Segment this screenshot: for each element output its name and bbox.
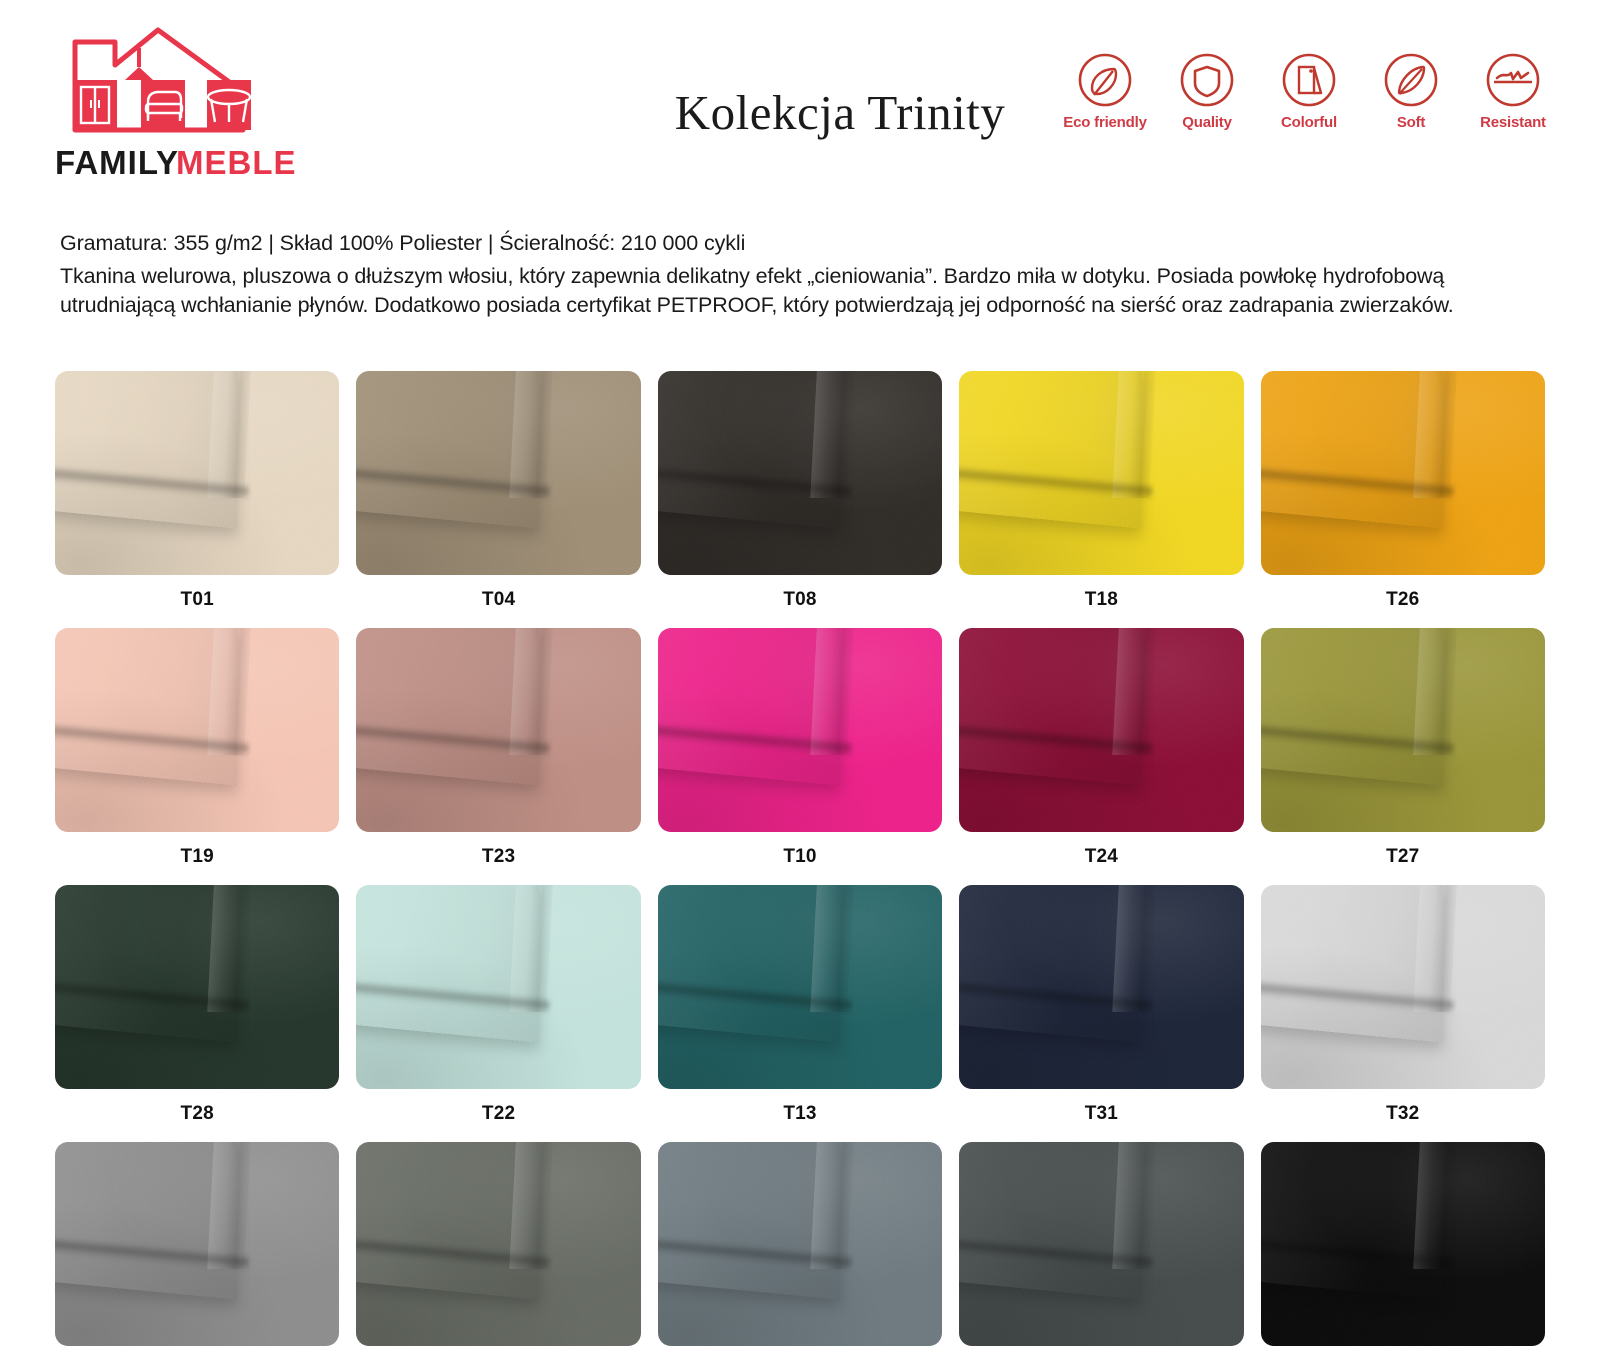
swatch-cell[interactable]: T28 [55,885,339,1142]
swatch-vignette [658,628,942,832]
fabric-swatch-image[interactable] [959,628,1243,832]
swatch-code-label: T28 [55,1089,339,1142]
swatch-icon [1281,52,1337,108]
swatch-code-label: T23 [356,832,640,885]
swatch-vignette [1261,885,1545,1089]
swatch-cell[interactable]: T14 [55,1142,339,1355]
fabric-swatch-image[interactable] [658,628,942,832]
swatch-vignette [356,885,640,1089]
swatch-vignette [356,1142,640,1346]
fabric-swatch-image[interactable] [658,885,942,1089]
swatch-code-label: T32 [1261,1089,1545,1142]
fabric-swatch-image[interactable] [356,885,640,1089]
feature-eco-friendly: Eco friendly [1068,52,1142,131]
fabric-swatch-image[interactable] [356,371,640,575]
fabric-collection-page: FAMILY MEBLE Kolekcja Trinity Eco friend… [0,0,1600,1355]
swatch-vignette [1261,1142,1545,1346]
swatch-code-label: T26 [1261,575,1545,628]
swatch-code-label: T10 [658,832,942,885]
swatch-cell[interactable]: T31 [959,885,1243,1142]
feature-label: Soft [1397,114,1425,131]
fabric-swatch-image[interactable] [1261,885,1545,1089]
swatch-cell[interactable]: T27 [1261,628,1545,885]
swatch-cell[interactable]: T18 [959,371,1243,628]
swatch-code-label: T08 [658,575,942,628]
feature-badges: Eco friendly Quality Colorful [1068,52,1550,131]
description-body: Tkanina welurowa, pluszowa o dłuższym wł… [60,262,1490,319]
feature-quality: Quality [1170,52,1244,131]
swatch-code-label: T16 [1261,1346,1545,1355]
swatch-vignette [658,371,942,575]
swatch-vignette [55,628,339,832]
swatch-cell[interactable]: T08 [658,371,942,628]
swatch-cell[interactable]: T04 [356,371,640,628]
swatch-cell[interactable]: T15 [959,1142,1243,1355]
swatch-vignette [1261,628,1545,832]
fabric-swatch-image[interactable] [356,628,640,832]
swatch-code-label: T33 [658,1346,942,1355]
feature-label: Eco friendly [1063,114,1146,131]
swatch-vignette [658,885,942,1089]
swatch-code-label: T01 [55,575,339,628]
swatch-cell[interactable]: T10 [658,628,942,885]
description-specs: Gramatura: 355 g/m2 | Skład 100% Poliest… [60,228,1490,258]
swatch-cell[interactable]: T13 [658,885,942,1142]
feather-icon [1383,52,1439,108]
fabric-swatch-image[interactable] [658,1142,942,1346]
swatch-vignette [959,371,1243,575]
swatch-vignette [356,628,640,832]
swatch-cell[interactable]: T24 [959,628,1243,885]
fabric-swatch-image[interactable] [356,1142,640,1346]
swatch-vignette [959,1142,1243,1346]
swatch-vignette [356,371,640,575]
feature-label: Resistant [1480,114,1546,131]
swatch-vignette [55,371,339,575]
fabric-swatch-image[interactable] [658,371,942,575]
feature-colorful: Colorful [1272,52,1346,131]
swatch-cell[interactable]: T01 [55,371,339,628]
leaf-icon [1077,52,1133,108]
swatch-cell[interactable]: T33 [658,1142,942,1355]
swatch-vignette [959,628,1243,832]
swatch-cell[interactable]: T23 [356,628,640,885]
fabric-swatch-image[interactable] [959,1142,1243,1346]
feature-label: Colorful [1281,114,1337,131]
swatch-code-label: T04 [356,575,640,628]
fabric-swatch-image[interactable] [55,371,339,575]
swatch-vignette [1261,371,1545,575]
swatch-cell[interactable]: T16 [1261,1142,1545,1355]
fabric-swatch-image[interactable] [55,1142,339,1346]
feature-label: Quality [1182,114,1231,131]
swatch-code-label: T18 [959,575,1243,628]
swatch-code-label: T15 [959,1346,1243,1355]
feature-resistant: Resistant [1476,52,1550,131]
swatch-code-label: T19 [55,832,339,885]
swatch-code-label: T24 [959,832,1243,885]
swatch-cell[interactable]: T32 [1261,885,1545,1142]
swatch-cell[interactable]: T22 [356,885,640,1142]
swatch-code-label: T27 [1261,832,1545,885]
fabric-swatch-image[interactable] [55,885,339,1089]
fabric-swatch-image[interactable] [959,371,1243,575]
swatch-code-label: T22 [356,1089,640,1142]
fabric-swatch-image[interactable] [959,885,1243,1089]
swatch-cell[interactable]: T19 [55,628,339,885]
swatch-vignette [55,885,339,1089]
swatch-vignette [658,1142,942,1346]
shield-icon [1179,52,1235,108]
swatch-code-label: T31 [959,1089,1243,1142]
fabric-swatch-image[interactable] [1261,1142,1545,1346]
swatch-code-label: T14 [55,1346,339,1355]
swatch-vignette [55,1142,339,1346]
fabric-swatch-image[interactable] [1261,628,1545,832]
fabric-swatch-image[interactable] [1261,371,1545,575]
page-header: FAMILY MEBLE Kolekcja Trinity Eco friend… [0,0,1600,205]
brand-name-meble: MEBLE [176,144,297,181]
brand-name-family: FAMILY [55,144,179,181]
abrasion-icon [1485,52,1541,108]
swatch-cell[interactable]: T34 [356,1142,640,1355]
swatch-code-label: T13 [658,1089,942,1142]
swatch-vignette [959,885,1243,1089]
feature-soft: Soft [1374,52,1448,131]
swatch-cell[interactable]: T26 [1261,371,1545,628]
fabric-swatch-image[interactable] [55,628,339,832]
fabric-swatch-grid: T01T04T08T18T26T19T23T10T24T27T28T22T13T… [55,371,1545,1355]
product-description: Gramatura: 355 g/m2 | Skład 100% Poliest… [60,228,1490,319]
swatch-code-label: T34 [356,1346,640,1355]
